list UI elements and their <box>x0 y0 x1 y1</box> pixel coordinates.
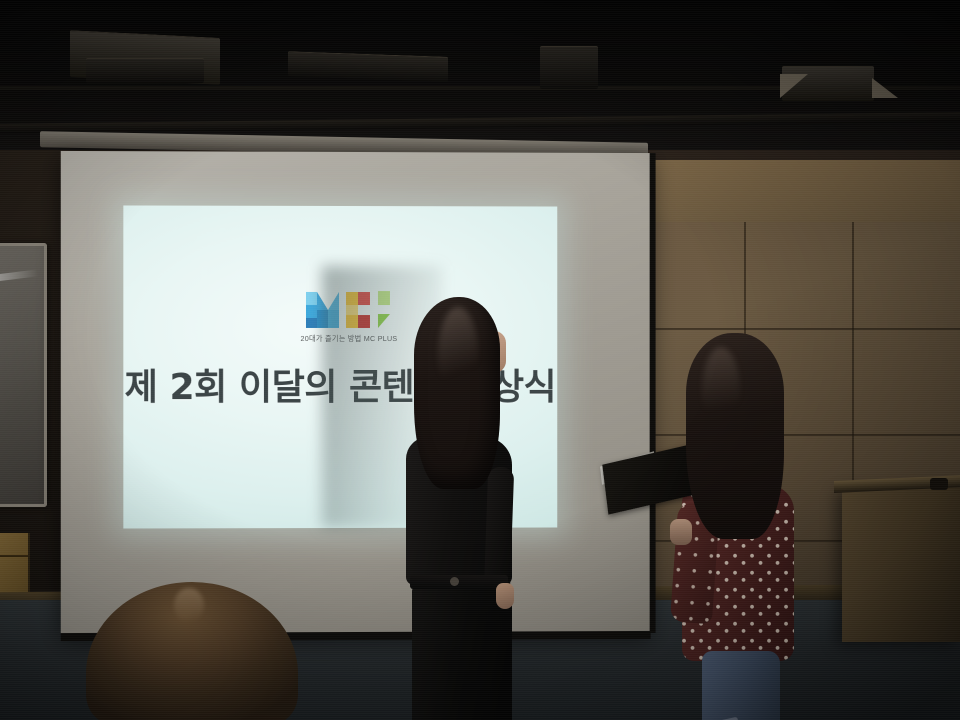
presenter-belt <box>410 575 508 589</box>
reader-person <box>672 333 808 720</box>
presenter-hand <box>496 583 514 609</box>
ceiling-light-panel <box>86 58 204 83</box>
ceiling-projector-mount <box>540 46 598 89</box>
box-flap <box>0 555 28 557</box>
panel-seam <box>636 328 960 330</box>
audience-member <box>86 582 298 720</box>
audience-hair-part <box>174 588 204 622</box>
whiteboard-glare <box>0 269 38 281</box>
wooden-podium <box>842 487 960 642</box>
podium-object <box>930 478 948 490</box>
presentation-room-photo: 20대가 즐기는 방법 MC PLUS 제 2회 이달의 콘텐츠 시상식 <box>0 0 960 720</box>
reader-hand <box>670 519 692 545</box>
presenter-skirt <box>412 587 512 720</box>
ceiling-bracket-right-icon <box>872 78 898 98</box>
screen-right-edge <box>650 153 656 633</box>
presenter-hair-highlight <box>438 307 478 403</box>
reader-jeans <box>702 651 780 720</box>
panel-wall-header-band <box>636 160 960 222</box>
ceiling-bracket-left-icon <box>780 74 808 98</box>
presenter-belt-button <box>450 577 459 586</box>
mc-plus-logo <box>306 288 390 332</box>
whiteboard <box>0 243 47 507</box>
reader-hair-highlight <box>702 347 740 435</box>
presenter-person <box>392 297 542 720</box>
mc-plus-logo-icon <box>306 288 390 332</box>
